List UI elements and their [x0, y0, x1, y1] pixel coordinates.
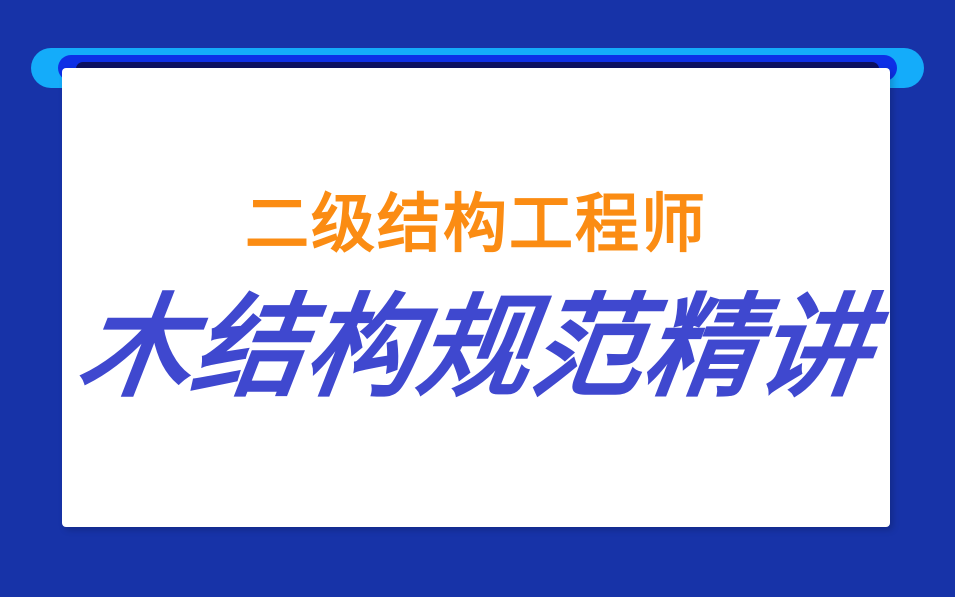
course-cover-slide: 二级结构工程师 木结构规范精讲 [0, 0, 955, 597]
primary-title: 二级结构工程师 [62, 193, 890, 257]
secondary-title: 木结构规范精讲 [54, 290, 899, 408]
content-card: 二级结构工程师 木结构规范精讲 [62, 68, 890, 527]
